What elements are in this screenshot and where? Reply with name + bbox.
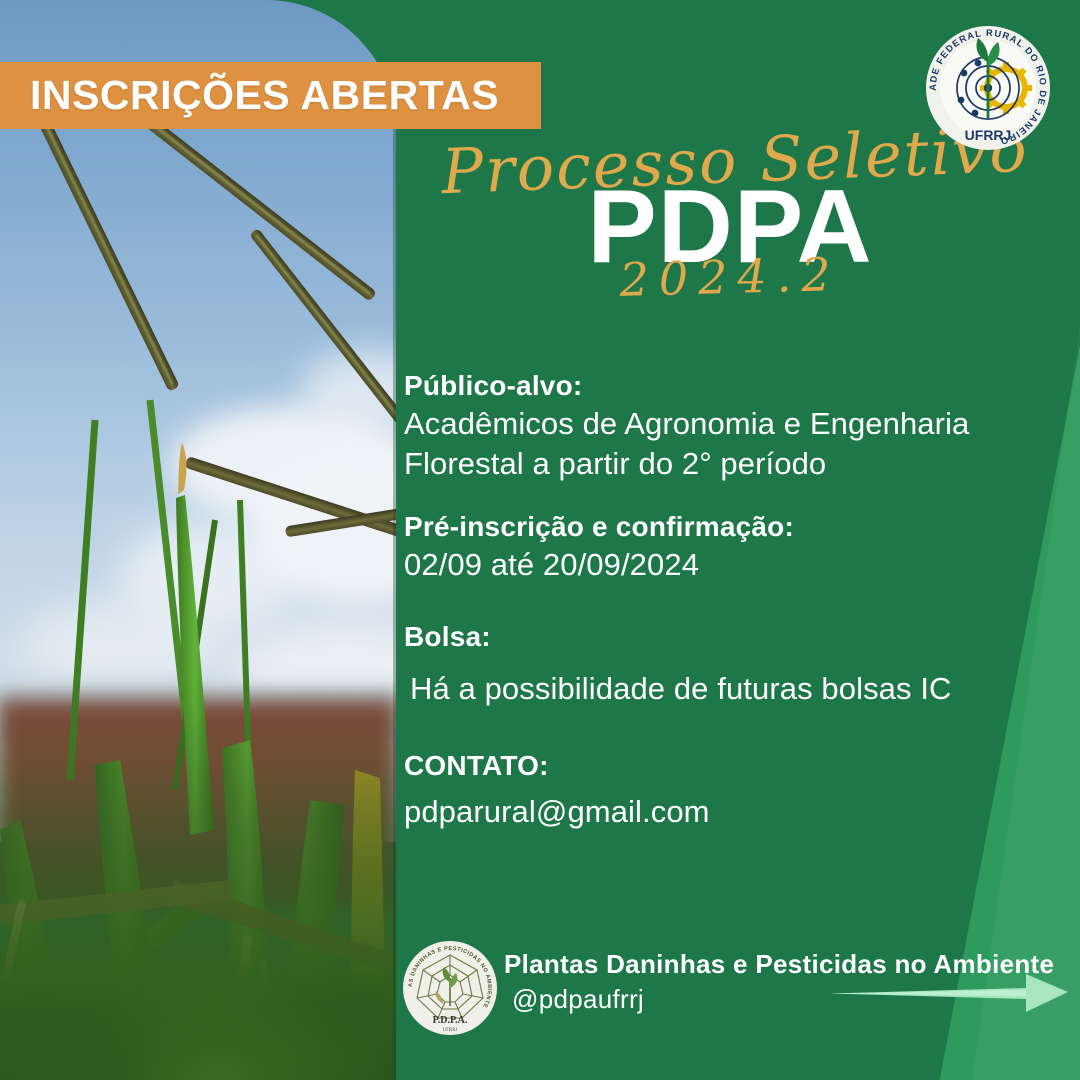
- contact-label: CONTATO:: [404, 748, 1064, 784]
- registration-block: Pré-inscrição e confirmação: 02/09 até 2…: [404, 509, 1064, 585]
- arrow-right-icon: [830, 966, 1070, 1018]
- pdpa-logo-sub: UFRRJ: [442, 1028, 457, 1033]
- info-section: Público-alvo: Acadêmicos de Agronomia e …: [404, 368, 1064, 832]
- scholarship-label: Bolsa:: [404, 619, 1064, 655]
- spacer: [404, 483, 1064, 509]
- poster-canvas: INSCRIÇÕES ABERTAS UNIVERSIDADE FEDERAL …: [0, 0, 1080, 1080]
- contact-email: pdparural@gmail.com: [404, 792, 1064, 832]
- scholarship-value: Há a possibilidade de futuras bolsas IC: [404, 669, 1064, 709]
- photo-edge: [393, 0, 396, 1080]
- grass-photo: [0, 0, 396, 1080]
- audience-label: Público-alvo:: [404, 368, 1064, 404]
- scholarship-block: Bolsa: Há a possibilidade de futuras bol…: [404, 619, 1064, 709]
- spacer: [404, 585, 1064, 619]
- footer-section: PLANTAS DANINHAS E PESTICIDAS NO AMBIENT…: [400, 934, 1060, 1046]
- registration-label: Pré-inscrição e confirmação:: [404, 509, 1064, 545]
- inscricoes-abertas-banner: INSCRIÇÕES ABERTAS: [0, 62, 541, 129]
- spacer: [404, 708, 1064, 748]
- contact-block: CONTATO: pdparural@gmail.com: [404, 748, 1064, 832]
- seal-acronym: UFRRJ: [965, 127, 1012, 143]
- audience-line-2: Florestal a partir do 2° período: [404, 444, 1064, 484]
- pdpa-logo: PLANTAS DANINHAS E PESTICIDAS NO AMBIENT…: [400, 938, 500, 1038]
- pdpa-logo-acronym: P.D.P.A.: [433, 1015, 468, 1026]
- audience-line-1: Acadêmicos de Agronomia e Engenharia: [404, 404, 1064, 444]
- banner-label: INSCRIÇÕES ABERTAS: [0, 72, 499, 119]
- registration-dates: 02/09 até 20/09/2024: [404, 545, 1064, 585]
- audience-block: Público-alvo: Acadêmicos de Agronomia e …: [404, 368, 1064, 483]
- ufrrj-seal: UNIVERSIDADE FEDERAL RURAL DO RIO DE JAN…: [918, 18, 1058, 158]
- grass-foliage: [0, 680, 396, 1080]
